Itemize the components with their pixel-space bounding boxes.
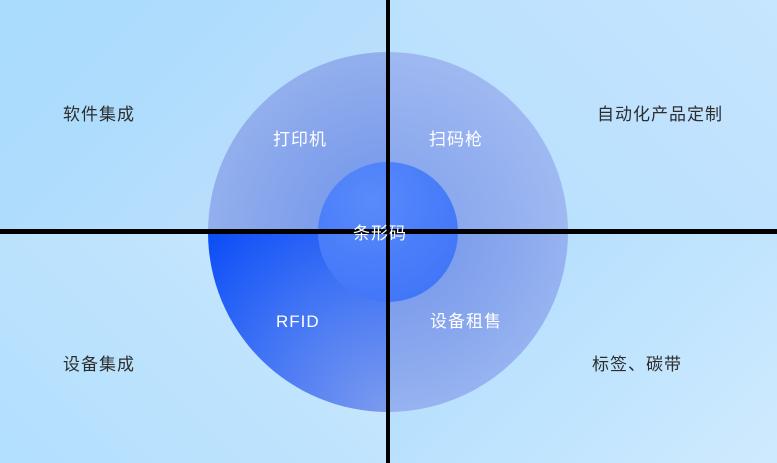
ring-label-printer: 打印机 bbox=[273, 131, 327, 148]
ring-label-scanner: 扫码枪 bbox=[429, 131, 483, 148]
outer-label-equipment: 设备集成 bbox=[63, 356, 135, 373]
outer-label-software: 软件集成 bbox=[63, 106, 135, 123]
ring-label-rental: 设备租售 bbox=[430, 313, 502, 330]
outer-label-labels-ribbon: 标签、碳带 bbox=[592, 356, 682, 373]
ring-label-rfid: RFID bbox=[276, 313, 320, 330]
diagram-canvas: 软件集成 自动化产品定制 设备集成 标签、碳带 打印机 扫码枪 RFID 设备租… bbox=[0, 0, 777, 463]
core-label-barcode: 条形码 bbox=[353, 225, 407, 242]
outer-label-automation: 自动化产品定制 bbox=[597, 106, 723, 123]
